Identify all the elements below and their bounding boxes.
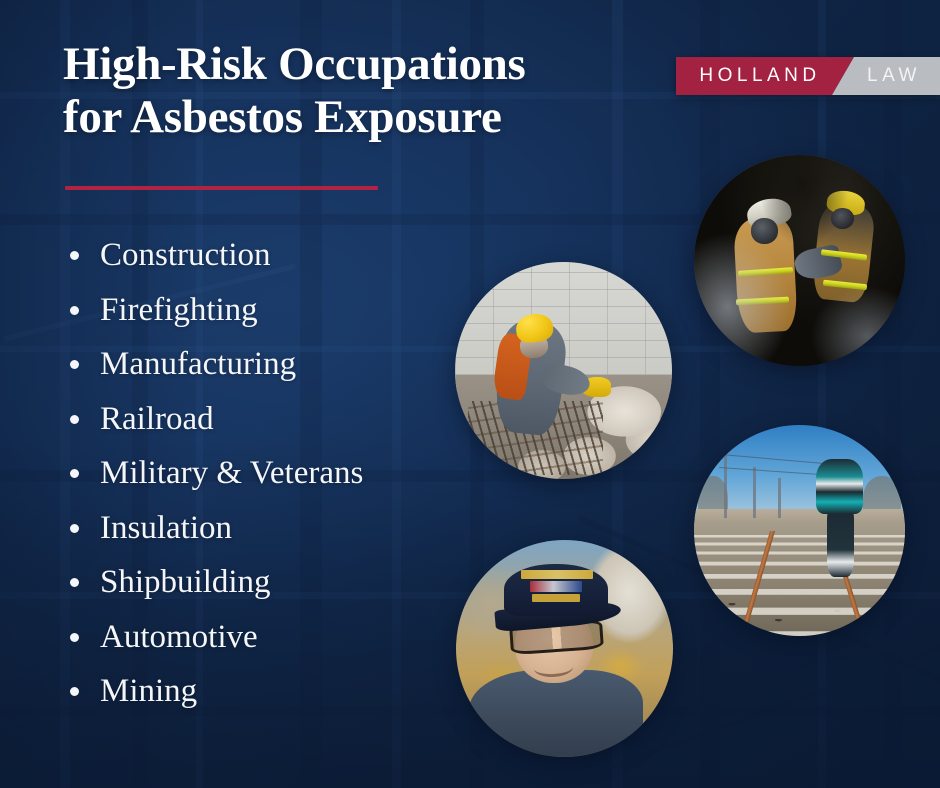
logo-primary-block: HOLLAND [676,57,854,95]
list-item-label: Manufacturing [100,337,296,392]
bullet-icon [70,469,79,478]
bullet-icon [70,306,79,315]
photo-railroad: Railroad worker in teal and black high-v… [694,425,905,636]
photo-construction: Construction worker in yellow hard hat a… [455,262,672,479]
list-item: Railroad [63,392,463,447]
occupations-list: Construction Firefighting Manufacturing … [63,228,463,719]
list-item: Automotive [63,610,463,665]
bullet-icon [70,687,79,696]
logo-primary-label: HOLLAND [699,65,830,87]
bullet-icon [70,524,79,533]
holland-law-logo[interactable]: HOLLAND LAW [676,57,940,95]
bullet-icon [70,415,79,424]
bullet-icon [70,578,79,587]
catenary-pole [724,455,727,518]
cap-embroidery-bottom [532,594,580,602]
list-item-label: Shipbuilding [100,555,271,610]
list-item-label: Military & Veterans [100,446,363,501]
page-title-line-2: for Asbestos Exposure [63,91,643,144]
cap-flag-patch [530,581,582,592]
veteran-scene [456,540,673,757]
title-accent-rule [65,186,378,190]
page-title-line-1: High-Risk Occupations [63,38,643,91]
list-item-label: Insulation [100,501,232,556]
list-item: Military & Veterans [63,446,463,501]
list-item: Construction [63,228,463,283]
photo-firefighter: Two firefighters in tan turnout gear wit… [694,155,905,366]
asbestos-occupations-poster: High-Risk Occupations for Asbestos Expos… [0,0,940,788]
list-item-label: Railroad [100,392,214,447]
bullet-icon [70,360,79,369]
firefighter-scene [694,155,905,366]
cap-embroidery-top [521,570,593,579]
photo-veteran: Smiling elderly veteran wearing a navy W… [456,540,673,757]
railroad-worker-legs [827,509,854,577]
list-item-label: Firefighting [100,283,258,338]
list-item-label: Automotive [100,610,258,665]
list-item: Mining [63,664,463,719]
smoke-overlay [694,155,905,366]
bullet-icon [70,251,79,260]
railroad-worker-jacket [816,459,862,514]
list-item: Insulation [63,501,463,556]
construction-scene [455,262,672,479]
list-item: Firefighting [63,283,463,338]
catenary-pole [753,467,756,518]
list-item-label: Mining [100,664,197,719]
list-item: Shipbuilding [63,555,463,610]
bullet-icon [70,633,79,642]
list-item: Manufacturing [63,337,463,392]
catenary-pole [778,478,781,518]
logo-secondary-label: LAW [851,65,921,87]
page-title: High-Risk Occupations for Asbestos Expos… [63,38,643,144]
list-item-label: Construction [100,228,271,283]
denim-shirt [469,670,643,757]
railroad-scene [694,425,905,636]
